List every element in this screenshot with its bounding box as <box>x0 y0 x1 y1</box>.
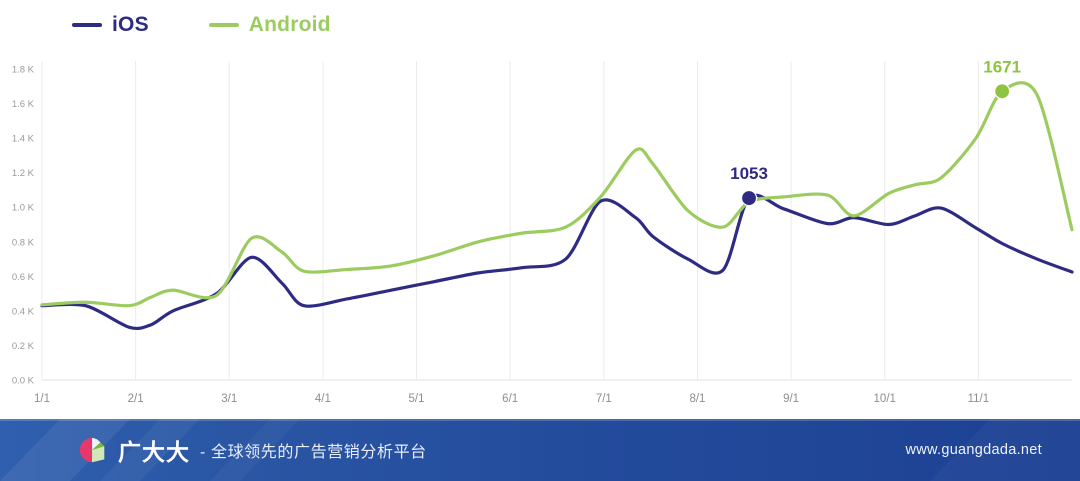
data-point-marker[interactable] <box>742 191 757 206</box>
legend-item-ios[interactable]: iOS <box>72 13 149 37</box>
line-swatch-icon <box>209 23 239 27</box>
svg-text:6/1: 6/1 <box>502 393 518 405</box>
chart-annotations: 10531671 <box>730 57 1021 205</box>
svg-text:2/1: 2/1 <box>128 393 144 405</box>
svg-text:1.6 K: 1.6 K <box>12 99 35 110</box>
svg-text:3/1: 3/1 <box>221 393 237 405</box>
svg-text:7/1: 7/1 <box>596 393 612 405</box>
chart-series <box>42 83 1072 329</box>
svg-text:0.6 K: 0.6 K <box>12 272 35 283</box>
svg-text:0.0 K: 0.0 K <box>12 376 35 387</box>
svg-text:1.4 K: 1.4 K <box>12 134 35 145</box>
data-point-marker[interactable] <box>995 84 1010 99</box>
chart-canvas: 0.0 K0.2 K0.4 K0.6 K0.8 K1.0 K1.2 K1.4 K… <box>0 50 1080 415</box>
chart-page: iOS Android 0.0 K0.2 K0.4 K0.6 K0.8 K1.0… <box>0 0 1080 481</box>
y-axis-ticks: 0.0 K0.2 K0.4 K0.6 K0.8 K1.0 K1.2 K1.4 K… <box>12 65 35 387</box>
data-point-label: 1671 <box>983 57 1021 76</box>
legend-label-ios: iOS <box>112 13 149 37</box>
svg-text:1.8 K: 1.8 K <box>12 65 35 76</box>
svg-text:1.0 K: 1.0 K <box>12 203 35 214</box>
legend-label-android: Android <box>249 13 331 37</box>
series-line-ios <box>42 195 1072 328</box>
svg-text:11/1: 11/1 <box>968 393 990 405</box>
svg-text:0.8 K: 0.8 K <box>12 237 35 248</box>
legend-item-android[interactable]: Android <box>209 13 331 37</box>
line-swatch-icon <box>72 23 102 27</box>
line-chart[interactable]: 0.0 K0.2 K0.4 K0.6 K0.8 K1.0 K1.2 K1.4 K… <box>0 50 1080 415</box>
series-line-android <box>42 83 1072 306</box>
footer-bar: 广大大 - 全球领先的广告营销分析平台 www.guangdada.net <box>0 419 1080 481</box>
svg-text:4/1: 4/1 <box>315 393 331 405</box>
brand-name: 广大大 <box>118 433 190 467</box>
x-axis-ticks: 1/12/13/14/15/16/17/18/19/110/111/1 <box>34 393 989 405</box>
svg-text:5/1: 5/1 <box>409 393 425 405</box>
svg-text:1/1: 1/1 <box>34 393 50 405</box>
brand-tagline: - 全球领先的广告营销分析平台 <box>200 438 427 462</box>
svg-text:8/1: 8/1 <box>689 393 705 405</box>
svg-text:10/1: 10/1 <box>874 393 896 405</box>
svg-text:1.2 K: 1.2 K <box>12 168 35 179</box>
guangdada-logo-icon <box>78 435 108 465</box>
brand-block: 广大大 - 全球领先的广告营销分析平台 <box>78 433 427 467</box>
svg-text:9/1: 9/1 <box>783 393 799 405</box>
footer-website-url[interactable]: www.guangdada.net <box>905 442 1042 458</box>
svg-text:0.2 K: 0.2 K <box>12 341 35 352</box>
chart-legend: iOS Android <box>0 0 1080 50</box>
data-point-label: 1053 <box>730 164 768 183</box>
svg-text:0.4 K: 0.4 K <box>12 306 35 317</box>
chart-gridlines <box>42 61 1072 380</box>
